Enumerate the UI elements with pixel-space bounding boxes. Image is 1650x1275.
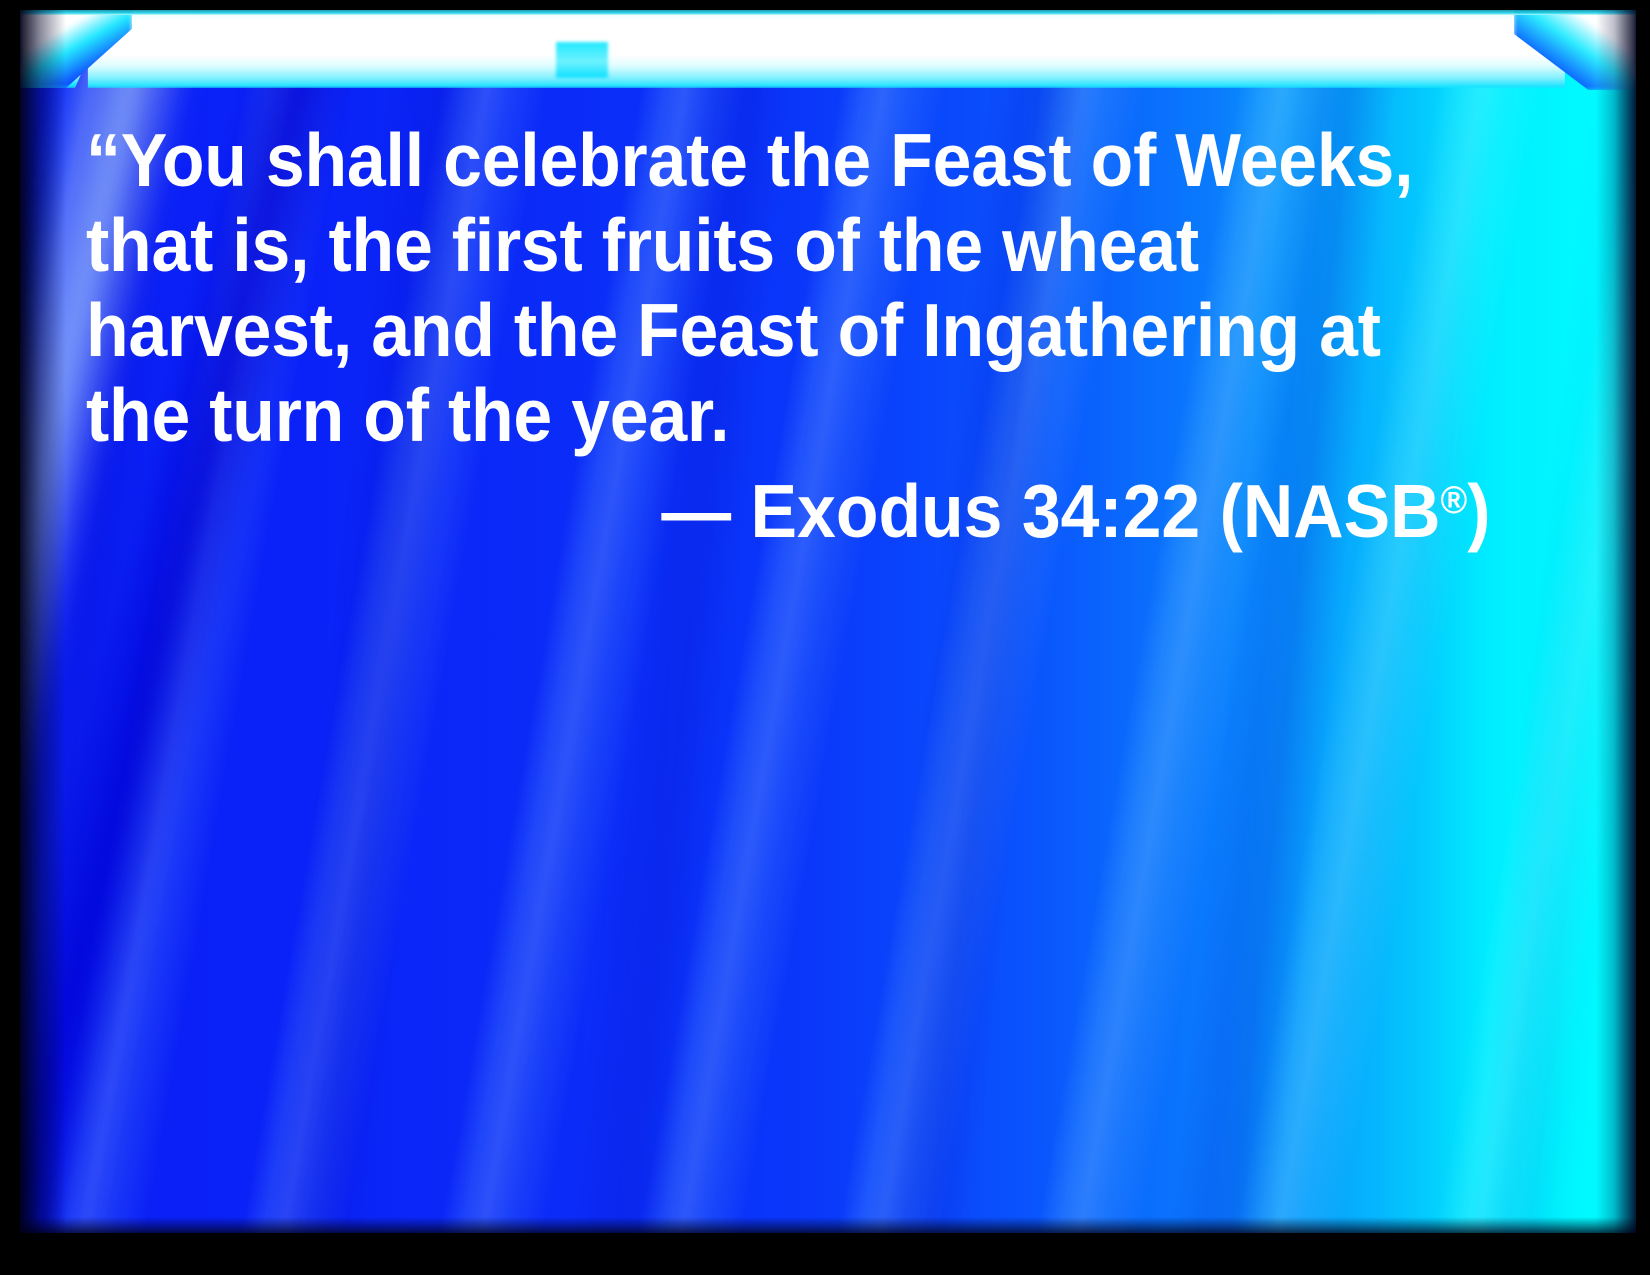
frame-border-left: [0, 0, 20, 1275]
verse-attribution: — Exodus 34:22 (NASB®): [86, 458, 1490, 554]
verse-text-block: “You shall celebrate the Feast of Weeks,…: [86, 118, 1506, 458]
verse-line-3: harvest, and the Feast of Ingathering at: [86, 288, 1407, 373]
attribution-suffix: ): [1467, 469, 1490, 553]
registered-trademark-icon: ®: [1440, 479, 1467, 522]
top-band-hairline: [20, 10, 1636, 15]
verse-line-1: “You shall celebrate the Feast of Weeks,: [86, 118, 1407, 203]
attribution-prefix: — Exodus 34:22 (NASB: [661, 469, 1440, 553]
frame-border-top: [0, 0, 1650, 10]
verse-line-4: the turn of the year.: [86, 373, 1407, 458]
frame-border-bottom: [0, 1233, 1650, 1275]
verse-line-2: that is, the first fruits of the wheat: [86, 203, 1407, 288]
verse-slide: “You shall celebrate the Feast of Weeks,…: [0, 0, 1650, 1275]
top-band-notch: [556, 42, 608, 78]
frame-border-right: [1636, 0, 1650, 1275]
top-highlight-band-core: [20, 10, 1636, 88]
